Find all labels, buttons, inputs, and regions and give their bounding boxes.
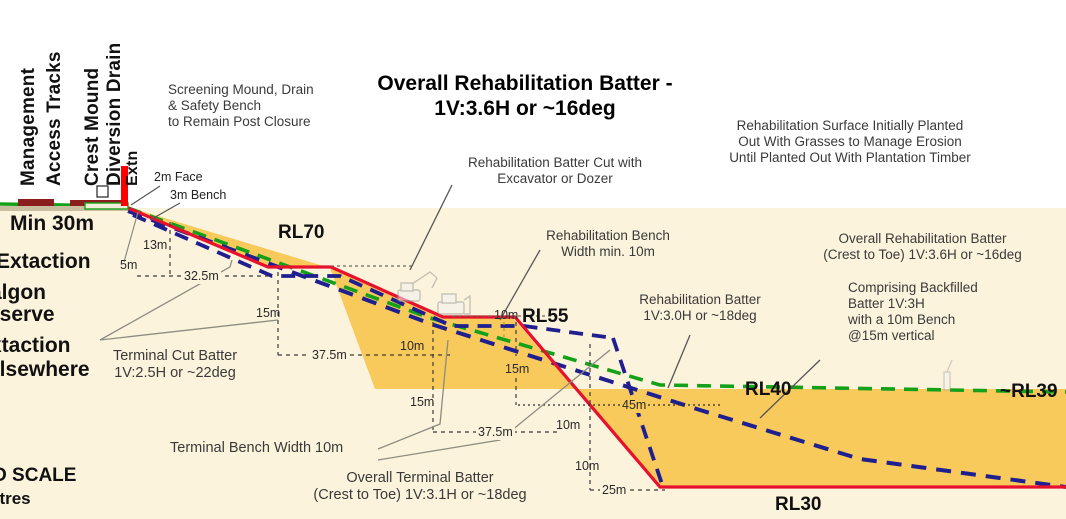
dim-10m-bench2: 10m	[556, 418, 580, 433]
note-line: (Crest to Toe) 1V:3.1H or ~18deg	[290, 487, 550, 504]
note-line: to Remain Post Closure	[168, 114, 314, 130]
scale-note-line-2: etres	[0, 489, 31, 509]
rl-label-rl70: RL70	[278, 222, 324, 244]
note-line: 1V:3.0H or ~18deg	[625, 308, 775, 324]
note-line: Overall Rehabilitation Batter	[790, 231, 1055, 247]
note-line: Rehabilitation Surface Initially Planted	[705, 118, 995, 134]
note-line: Overall Terminal Batter	[290, 470, 550, 487]
note-line: Width min. 10m	[533, 244, 683, 260]
note-line: Terminal Cut Batter	[95, 348, 255, 365]
note-rehab-batter-slope: Rehabilitation Batter 1V:3.0H or ~18deg	[625, 292, 775, 324]
note-line: Excavator or Dozer	[455, 171, 655, 187]
note-line: Comprising Backfilled	[848, 280, 978, 296]
note-screening-mound: Screening Mound, Drain & Safety Bench to…	[168, 82, 314, 130]
dim-15m-upper: 15m	[256, 306, 280, 321]
left-item-xtaction: xtaction	[0, 334, 71, 359]
note-rehab-batter-cut: Rehabilitation Batter Cut with Excavator…	[455, 155, 655, 187]
note-line: Out With Grasses to Manage Erosion	[705, 134, 995, 150]
callout-2m-face: 2m Face	[154, 170, 203, 185]
note-line: (Crest to Toe) 1V:3.6H or ~16deg	[790, 247, 1055, 263]
note-overall-rehab-batter: Overall Rehabilitation Batter (Crest to …	[790, 231, 1055, 263]
left-item-extaction: Extaction	[0, 250, 91, 275]
dim-15m-lower: 15m	[410, 395, 434, 410]
page-title: Overall Rehabilitation Batter - 1V:3.6H …	[355, 72, 695, 122]
note-rehab-surface-planting: Rehabilitation Surface Initially Planted…	[705, 118, 995, 166]
rl-label-rl30: RL30	[775, 494, 821, 516]
note-line: Until Planted Out With Plantation Timber	[705, 150, 995, 166]
left-item-elsewhere: elsewhere	[0, 358, 90, 383]
dim-13m: 13m	[143, 238, 167, 253]
title-line-2: 1V:3.6H or ~16deg	[355, 97, 695, 122]
vertical-label-diversion-extn: Extn	[124, 100, 142, 186]
dim-45m: 45m	[620, 398, 648, 413]
note-rehab-bench-width: Rehabilitation Bench Width min. 10m	[533, 228, 683, 260]
leader-2m-face	[131, 186, 160, 205]
dim-32-5m: 32.5m	[182, 269, 221, 284]
dim-37-5m-lower: 37.5m	[476, 425, 515, 440]
rehabilitation-batter-cross-section: Overall Rehabilitation Batter - 1V:3.6H …	[0, 0, 1066, 519]
note-overall-terminal-batter: Overall Terminal Batter (Crest to Toe) 1…	[290, 470, 550, 504]
note-backfilled-batter: Comprising Backfilled Batter 1V:3H with …	[848, 280, 978, 344]
left-item-eserve: eserve	[0, 303, 55, 328]
note-line: Screening Mound, Drain	[168, 82, 314, 98]
min-width-label: Min 30m	[10, 212, 94, 237]
title-line-1: Overall Rehabilitation Batter -	[355, 72, 695, 97]
note-line: Rehabilitation Batter	[625, 292, 775, 308]
note-line: @15m vertical	[848, 328, 978, 344]
rl-label-rl40: RL40	[745, 379, 791, 401]
vertical-label-diversion-drain: Diversion Drain	[104, 34, 126, 186]
dim-5m: 5m	[120, 258, 137, 273]
dim-10m-bench1: 10m	[400, 339, 424, 354]
management-track-pad	[18, 199, 54, 206]
note-terminal-bench-width: Terminal Bench Width 10m	[170, 440, 343, 457]
crest-mound-square	[97, 186, 108, 197]
vertical-label-access-tracks: Access Tracks	[44, 36, 66, 186]
dim-37-5m-upper: 37.5m	[310, 348, 349, 363]
dim-10m-lower: 10m	[575, 459, 599, 474]
dim-25m: 25m	[600, 483, 628, 498]
note-line: Rehabilitation Bench	[533, 228, 683, 244]
vertical-label-management: Management	[18, 36, 40, 186]
dim-15m-mid: 15m	[505, 362, 529, 377]
note-line: Terminal Bench Width 10m	[170, 440, 343, 457]
note-line: Rehabilitation Batter Cut with	[455, 155, 655, 171]
note-line: 1V:2.5H or ~22deg	[95, 365, 255, 382]
note-line: with a 10m Bench	[848, 312, 978, 328]
vertical-label-crest-mound: Crest Mound	[82, 52, 104, 186]
rl-label-rl39: ~RL39	[1000, 381, 1058, 403]
rl-label-rl55: RL55	[522, 306, 568, 328]
callout-3m-bench: 3m Bench	[170, 188, 226, 203]
note-line: & Safety Bench	[168, 98, 314, 114]
note-terminal-cut-batter: Terminal Cut Batter 1V:2.5H or ~22deg	[95, 348, 255, 382]
scale-note-line-1: O SCALE	[0, 465, 76, 487]
dim-10m-rl55: 10m	[494, 308, 518, 323]
note-line: Batter 1V:3H	[848, 296, 978, 312]
